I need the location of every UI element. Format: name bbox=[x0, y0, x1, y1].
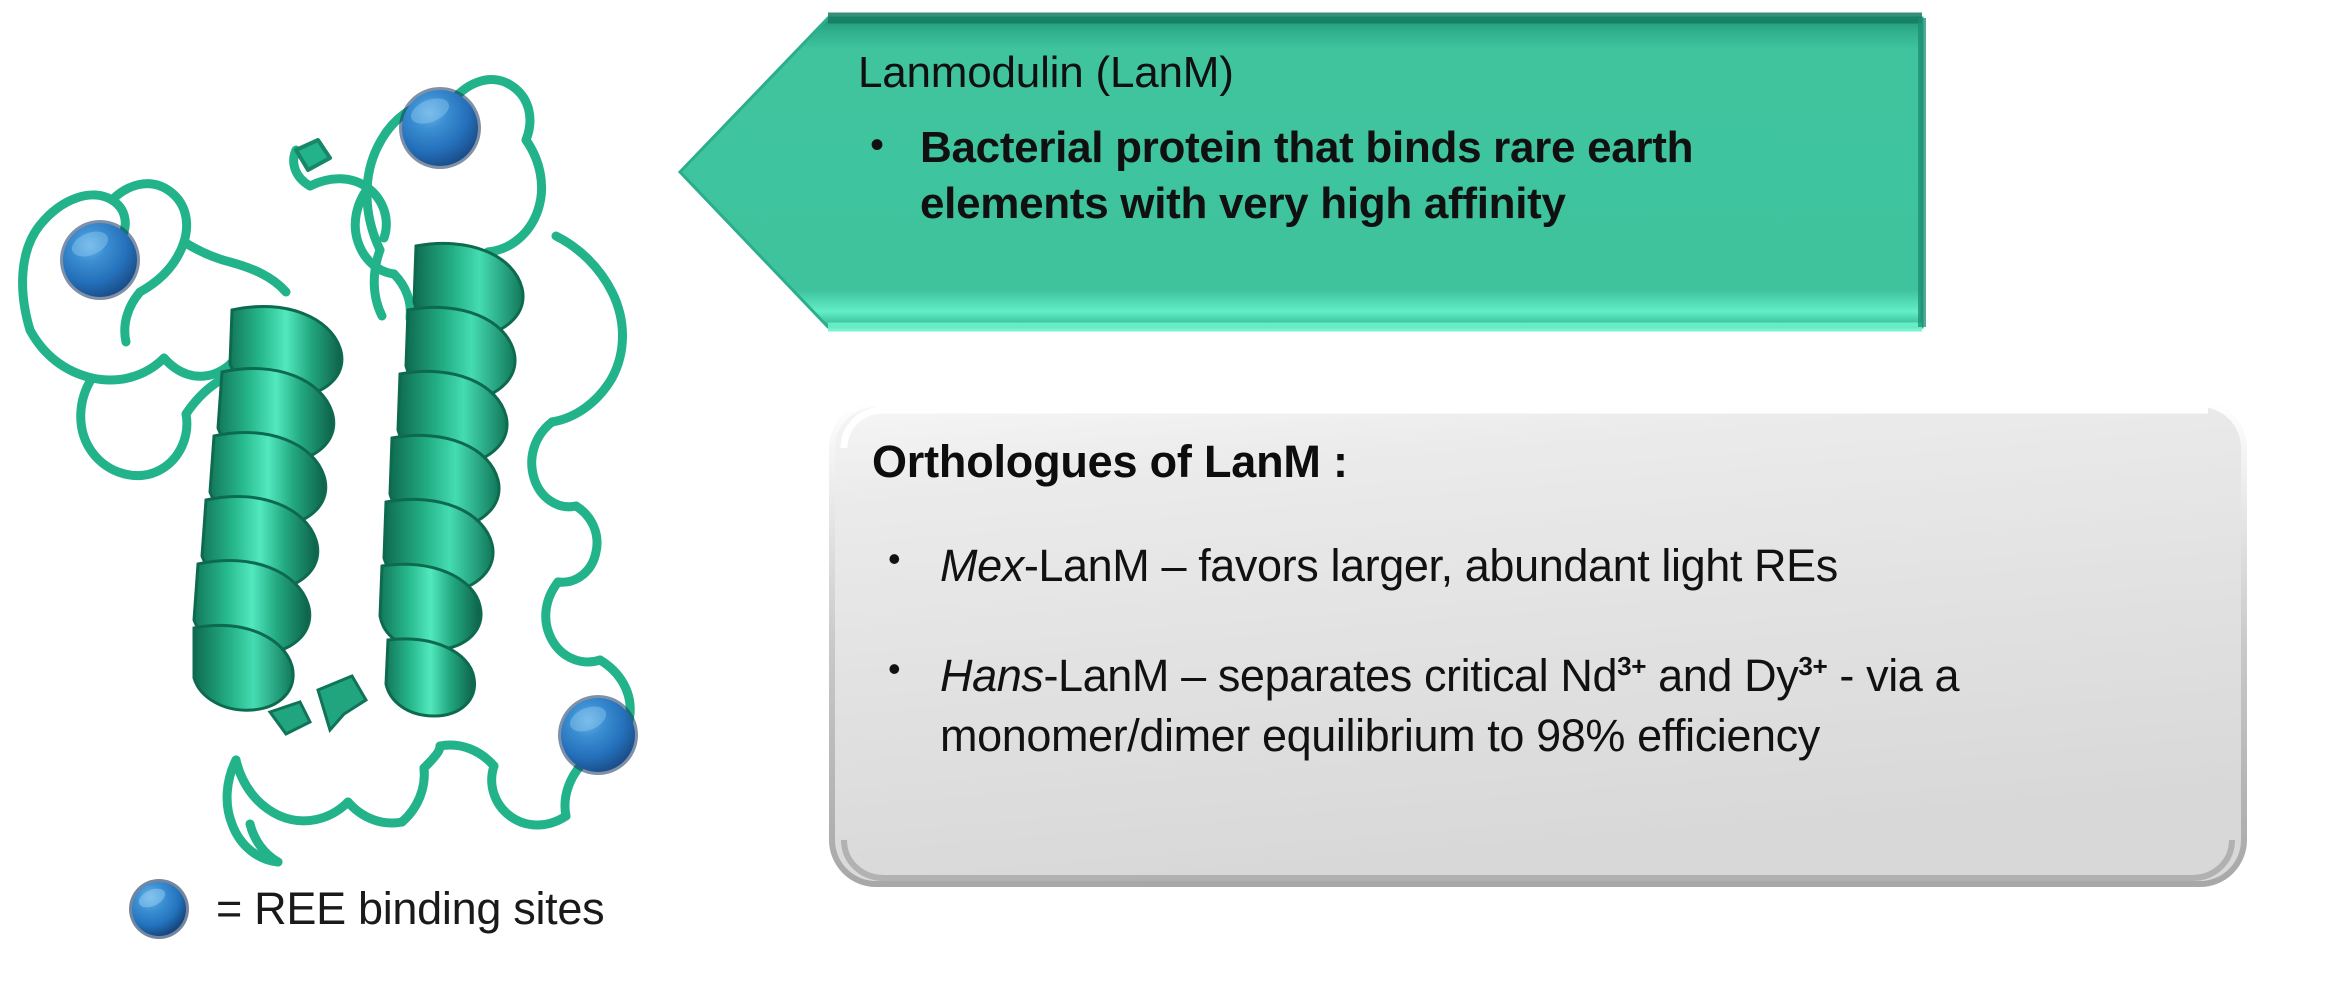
ree-binding-site-bottom bbox=[558, 695, 638, 775]
species-name: Hans bbox=[940, 650, 1043, 701]
alpha-helix-right bbox=[380, 243, 523, 716]
alpha-helix-left bbox=[194, 306, 342, 710]
callout-title: Lanmodulin (LanM) bbox=[858, 48, 1892, 98]
hans-part-a: -LanM – separates critical Nd bbox=[1043, 650, 1617, 701]
protein-structure-figure bbox=[0, 0, 700, 880]
orthologues-infobox: Orthologues of LanM : • Mex-LanM – favor… bbox=[828, 400, 2248, 888]
callout-bullet-text: Bacterial protein that binds rare earth … bbox=[920, 120, 1892, 231]
ree-binding-site-left bbox=[60, 220, 140, 300]
legend: = REE binding sites bbox=[128, 878, 604, 940]
legend-label: = REE binding sites bbox=[216, 883, 604, 935]
callout-bullet: • Bacterial protein that binds rare eart… bbox=[858, 120, 1892, 231]
blue-sphere-icon bbox=[128, 878, 190, 940]
charge-superscript-dy: 3+ bbox=[1798, 651, 1827, 681]
slide-canvas: = REE binding sites Lanmodulin (LanM) bbox=[0, 0, 2352, 987]
list-item: • Mex-LanM – favors larger, abundant lig… bbox=[872, 536, 2214, 596]
hans-part-b: and Dy bbox=[1646, 650, 1798, 701]
charge-superscript-nd: 3+ bbox=[1617, 651, 1646, 681]
ree-binding-site-top bbox=[399, 87, 481, 169]
list-item: • Hans-LanM – separates critical Nd3+ an… bbox=[872, 646, 2214, 766]
orthologue-list: • Mex-LanM – favors larger, abundant lig… bbox=[872, 536, 2214, 766]
orthologue-mex-text: Mex-LanM – favors larger, abundant light… bbox=[940, 536, 1838, 596]
protein-ribbon-svg bbox=[0, 0, 700, 880]
bullet-marker-icon: • bbox=[872, 536, 940, 583]
infobox-heading: Orthologues of LanM : bbox=[872, 436, 2214, 488]
lanmodulin-callout: Lanmodulin (LanM) • Bacterial protein th… bbox=[676, 10, 1930, 335]
infobox-content: Orthologues of LanM : • Mex-LanM – favor… bbox=[828, 400, 2248, 888]
species-name: Mex bbox=[940, 540, 1024, 591]
orthologue-mex-rest: -LanM – favors larger, abundant light RE… bbox=[1024, 540, 1838, 591]
bullet-marker-icon: • bbox=[858, 120, 920, 170]
callout-content: Lanmodulin (LanM) • Bacterial protein th… bbox=[828, 18, 1916, 317]
orthologue-hans-text: Hans-LanM – separates critical Nd3+ and … bbox=[940, 646, 2214, 766]
bullet-marker-icon: • bbox=[872, 646, 940, 693]
protein-loops-group bbox=[23, 80, 631, 862]
